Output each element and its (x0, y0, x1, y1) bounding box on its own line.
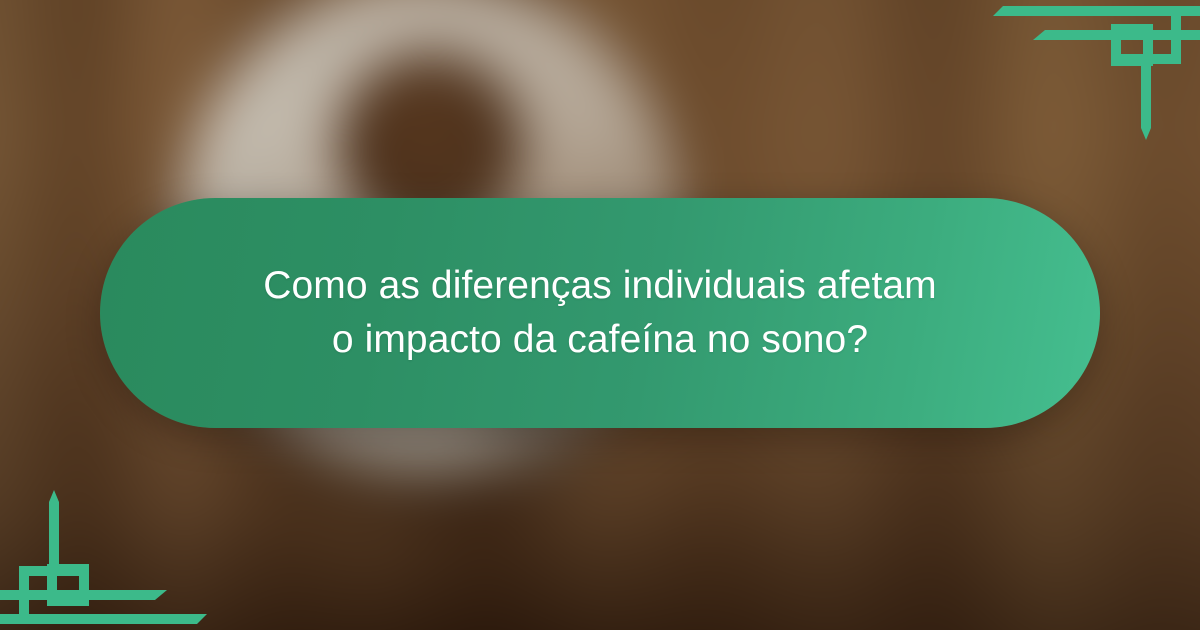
social-share-card: Como as diferenças individuais afetam o … (0, 0, 1200, 630)
question-banner: Como as diferenças individuais afetam o … (100, 198, 1100, 428)
corner-ornament-top-right-icon (985, 0, 1200, 140)
page-title: Como as diferenças individuais afetam o … (250, 259, 950, 367)
corner-ornament-bottom-left-icon (0, 490, 215, 630)
